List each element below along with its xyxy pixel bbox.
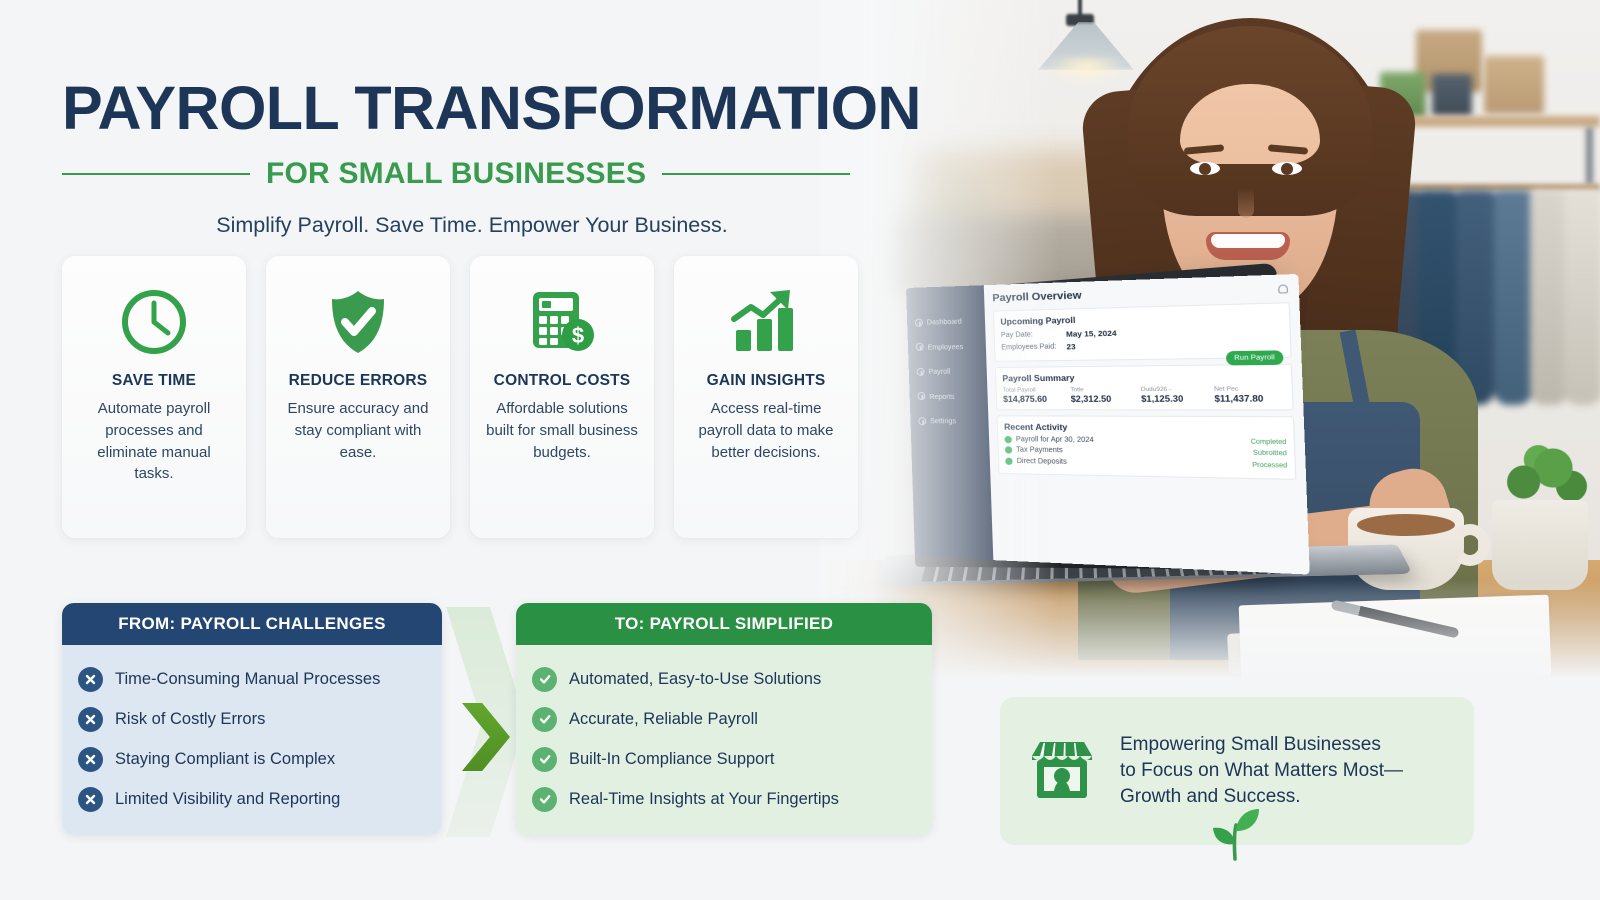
- list-item-label: Automated, Easy-to-Use Solutions: [569, 670, 821, 689]
- list-item-label: Limited Visibility and Reporting: [115, 790, 340, 809]
- list-item: Real-Time Insights at Your Fingertips: [532, 779, 916, 819]
- smiling-mouth: [1206, 232, 1290, 260]
- clock-icon: [118, 284, 190, 360]
- feature-card-control-costs[interactable]: $ CONTROL COSTS Affordable solutions bui…: [470, 256, 654, 538]
- list-item: Risk of Costly Errors: [78, 699, 426, 739]
- metric-value: $2,312.50: [1071, 393, 1136, 404]
- x-circle-icon: [78, 747, 103, 772]
- list-item-label: Built-In Compliance Support: [569, 750, 774, 769]
- x-circle-icon: [78, 667, 103, 692]
- summary-metric: Net Pec $11,437.80: [1214, 386, 1285, 404]
- feature-description: Affordable solutions built for small bus…: [484, 398, 640, 463]
- rule-left: [62, 173, 250, 175]
- feature-title: CONTROL COSTS: [494, 372, 631, 390]
- activity-status: Processed: [1252, 461, 1287, 469]
- storefront-icon: [1026, 736, 1098, 806]
- activity-status: Completed: [1250, 438, 1286, 446]
- run-payroll-button[interactable]: Run Payroll: [1226, 350, 1284, 365]
- cta-panel: Empowering Small Businesses to Focus on …: [1000, 697, 1474, 845]
- check-circle-icon: [532, 787, 557, 812]
- metric-value: $11,437.80: [1214, 393, 1285, 404]
- feature-cards: SAVE TIME Automate payroll processes and…: [62, 256, 858, 538]
- page-tagline: Simplify Payroll. Save Time. Empower You…: [62, 213, 882, 238]
- shelf-box: [1484, 56, 1544, 114]
- list-item: Staying Compliant is Complex: [78, 739, 426, 779]
- feature-description: Ensure accuracy and stay compliant with …: [280, 398, 436, 463]
- calculator-dollar-icon: $: [525, 284, 599, 360]
- plant-pot: [1492, 500, 1588, 590]
- list-item: Built-In Compliance Support: [532, 739, 916, 779]
- list-item: Time-Consuming Manual Processes: [78, 659, 426, 699]
- summary-metric: Totle $2,312.50: [1070, 387, 1135, 404]
- list-item: Automated, Easy-to-Use Solutions: [532, 659, 916, 699]
- cta-text: Empowering Small Businesses to Focus on …: [1120, 732, 1403, 811]
- feature-description: Access real-time payroll data to make be…: [688, 398, 844, 463]
- feature-title: SAVE TIME: [112, 372, 196, 390]
- to-panel-heading: TO: PAYROLL SIMPLIFIED: [516, 603, 932, 645]
- employees-paid-value: 23: [1066, 342, 1075, 352]
- metric-value: $1,125.30: [1141, 393, 1209, 404]
- activity-status: Subroitted: [1253, 450, 1287, 458]
- growth-chart-icon: [728, 284, 804, 360]
- nose: [1238, 188, 1254, 218]
- check-circle-icon: [532, 707, 557, 732]
- list-item: Limited Visibility and Reporting: [78, 779, 426, 819]
- feature-description: Automate payroll processes and eliminate…: [76, 398, 232, 485]
- check-circle-icon: [532, 667, 557, 692]
- from-panel-heading: FROM: PAYROLL CHALLENGES: [62, 603, 442, 645]
- rule-right: [662, 173, 850, 175]
- list-item: Accurate, Reliable Payroll: [532, 699, 916, 739]
- header-block: PAYROLL TRANSFORMATION FOR SMALL BUSINES…: [62, 78, 892, 238]
- x-circle-icon: [78, 787, 103, 812]
- feature-card-gain-insights[interactable]: GAIN INSIGHTS Access real-time payroll d…: [674, 256, 858, 538]
- to-panel: TO: PAYROLL SIMPLIFIED Automated, Easy-t…: [516, 603, 932, 835]
- subtitle-row: FOR SMALL BUSINESSES: [62, 157, 892, 191]
- x-circle-icon: [78, 707, 103, 732]
- summary-metric: Dudu926 - $1,125.30: [1141, 386, 1209, 404]
- eye-right: [1272, 162, 1302, 175]
- eye-left: [1190, 162, 1220, 175]
- to-panel-body: Automated, Easy-to-Use Solutions Accurat…: [516, 645, 932, 835]
- shelf-leg: [1586, 127, 1593, 185]
- hero-photo: Dashboard Employees Payroll Reports: [820, 0, 1600, 700]
- from-panel-body: Time-Consuming Manual Processes Risk of …: [62, 645, 442, 835]
- list-item-label: Time-Consuming Manual Processes: [115, 670, 380, 689]
- list-item-label: Risk of Costly Errors: [115, 710, 265, 729]
- feature-title: GAIN INSIGHTS: [707, 372, 826, 390]
- cta-line-1: Empowering Small Businesses: [1120, 732, 1403, 758]
- feature-card-save-time[interactable]: SAVE TIME Automate payroll processes and…: [62, 256, 246, 538]
- check-circle-icon: [532, 747, 557, 772]
- transition-arrow: [446, 607, 526, 837]
- sprout-icon: [1205, 803, 1265, 861]
- coffee-mug-handle: [1450, 524, 1490, 566]
- page-subtitle: FOR SMALL BUSINESSES: [266, 157, 646, 191]
- from-panel: FROM: PAYROLL CHALLENGES Time-Consuming …: [62, 603, 442, 835]
- feature-title: REDUCE ERRORS: [289, 372, 428, 390]
- page-title: PAYROLL TRANSFORMATION: [62, 78, 892, 139]
- cta-line-2: to Focus on What Matters Most—: [1120, 758, 1403, 784]
- list-item-label: Real-Time Insights at Your Fingertips: [569, 790, 839, 809]
- bell-icon[interactable]: [1278, 284, 1288, 293]
- shield-check-icon: [322, 284, 394, 360]
- pay-date-value: May 15, 2024: [1066, 328, 1117, 339]
- list-item-label: Staying Compliant is Complex: [115, 750, 335, 769]
- svg-text:$: $: [572, 323, 584, 348]
- list-item-label: Accurate, Reliable Payroll: [569, 710, 758, 729]
- feature-card-reduce-errors[interactable]: REDUCE ERRORS Ensure accuracy and stay c…: [266, 256, 450, 538]
- photo-bottom-fade: [820, 580, 1600, 700]
